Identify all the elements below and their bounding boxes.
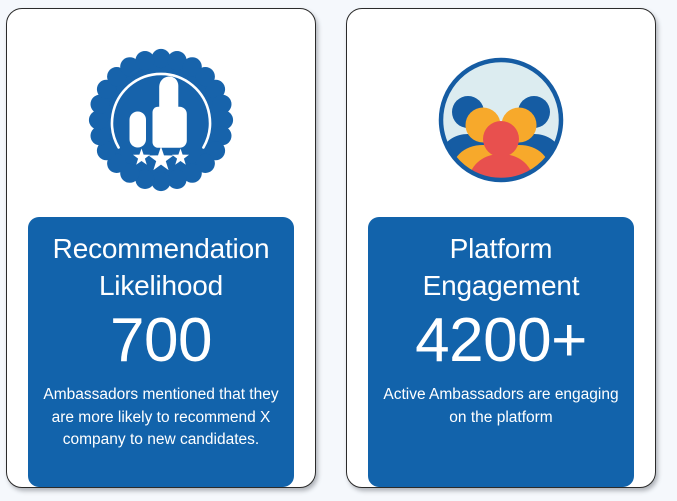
stat-title: Recommendation Likelihood: [53, 231, 270, 305]
stat-value: 4200+: [415, 309, 587, 372]
stat-description: Active Ambassadors are engaging on the p…: [378, 384, 624, 429]
stat-value: 700: [110, 309, 212, 372]
stat-panel: Platform Engagement 4200+ Active Ambassa…: [368, 217, 634, 487]
thumbs-up-badge-icon: [87, 45, 235, 195]
stat-title: Platform Engagement: [423, 231, 580, 305]
stats-board: Recommendation Likelihood 700 Ambassador…: [0, 0, 677, 501]
stat-panel: Recommendation Likelihood 700 Ambassador…: [28, 217, 294, 487]
group-of-people-icon: [427, 45, 575, 195]
stat-card-platform-engagement[interactable]: Platform Engagement 4200+ Active Ambassa…: [346, 8, 656, 488]
stat-description: Ambassadors mentioned that they are more…: [38, 384, 284, 452]
stat-card-recommendation-likelihood[interactable]: Recommendation Likelihood 700 Ambassador…: [6, 8, 316, 488]
